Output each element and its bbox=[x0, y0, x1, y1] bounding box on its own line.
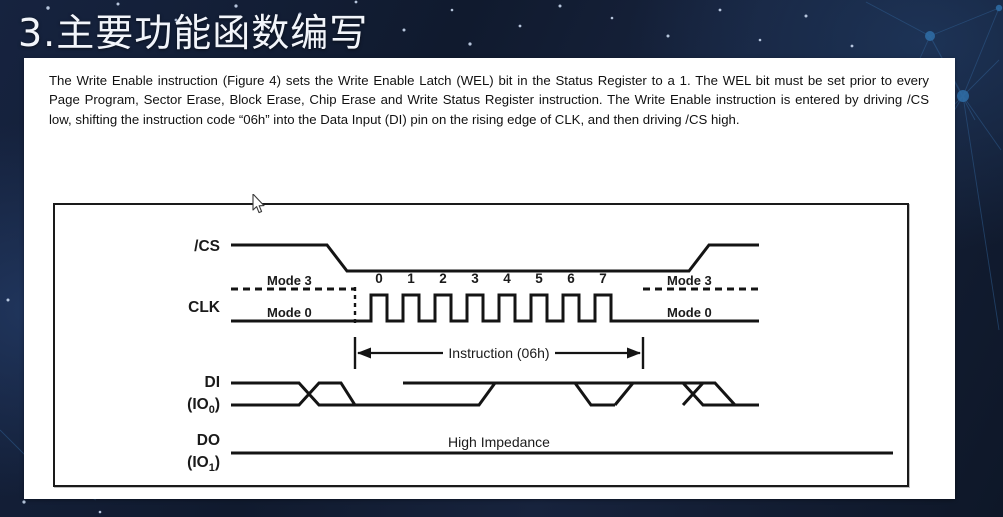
signal-sublabel-do: (IO1) bbox=[187, 454, 220, 474]
signal-cs bbox=[231, 245, 759, 271]
timing-diagram-frame: /CS CLK bbox=[53, 203, 909, 487]
signal-label-clk: CLK bbox=[188, 299, 221, 316]
clock-number-0: 0 bbox=[375, 271, 383, 286]
content-card: The Write Enable instruction (Figure 4) … bbox=[24, 58, 955, 499]
description-paragraph: The Write Enable instruction (Figure 4) … bbox=[49, 71, 929, 129]
mode0-label-right: Mode 0 bbox=[667, 305, 712, 320]
clock-number-1: 1 bbox=[407, 271, 415, 286]
signal-label-di: DI bbox=[205, 374, 221, 391]
signal-label-do: DO bbox=[197, 432, 220, 449]
page-title: 3.主要功能函数编写 bbox=[18, 2, 368, 57]
mode3-label-right: Mode 3 bbox=[667, 273, 712, 288]
signal-di bbox=[231, 383, 759, 405]
signal-sublabel-di: (IO0) bbox=[187, 396, 220, 416]
clock-cycle-numbers: 0 1 2 3 4 5 6 7 bbox=[375, 271, 607, 286]
presentation-slide: 3.主要功能函数编写 The Write Enable instruction … bbox=[0, 0, 1003, 517]
clock-number-7: 7 bbox=[599, 271, 607, 286]
mode0-label-left: Mode 0 bbox=[267, 305, 312, 320]
signal-label-cs: /CS bbox=[194, 238, 220, 255]
clock-number-5: 5 bbox=[535, 271, 543, 286]
clock-number-3: 3 bbox=[471, 271, 479, 286]
clock-number-4: 4 bbox=[503, 271, 511, 286]
timing-diagram: /CS CLK bbox=[55, 205, 907, 485]
instruction-label: Instruction (06h) bbox=[448, 345, 549, 361]
do-state-label: High Impedance bbox=[448, 434, 550, 450]
clock-number-2: 2 bbox=[439, 271, 447, 286]
mode3-label-left: Mode 3 bbox=[267, 273, 312, 288]
mouse-pointer-icon bbox=[252, 194, 266, 214]
clock-number-6: 6 bbox=[567, 271, 575, 286]
description-text: The Write Enable instruction (Figure 4) … bbox=[49, 71, 929, 129]
